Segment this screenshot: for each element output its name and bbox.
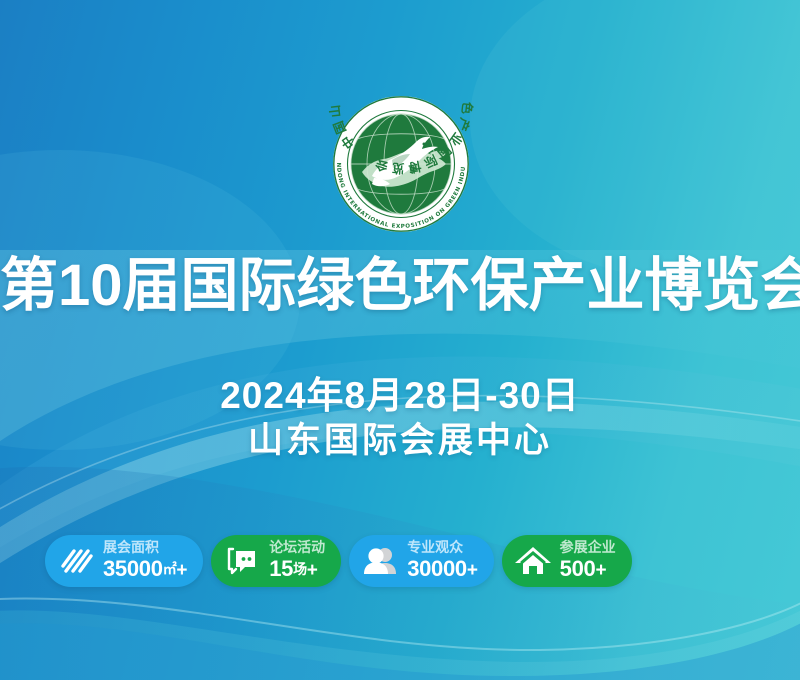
speech-bubble-icon	[223, 542, 261, 580]
stat-value: 15场+	[269, 557, 325, 583]
stat-unit: ㎡	[163, 561, 177, 577]
stats-row: 展会面积 35000㎡+ 论坛活动 15场+	[45, 535, 755, 587]
stat-number: 500	[560, 556, 596, 581]
audience-people-icon	[361, 542, 399, 580]
banner-title: 第10届国际绿色环保产业博览会	[0, 252, 800, 320]
stat-suffix: +	[307, 560, 318, 581]
stat-label: 专业观众	[407, 539, 477, 555]
stat-label: 展会面积	[103, 539, 187, 555]
stat-label: 论坛活动	[269, 539, 325, 555]
stat-value: 35000㎡+	[103, 557, 187, 583]
stat-number: 15	[269, 556, 293, 581]
stat-pill-exhibition-area: 展会面积 35000㎡+	[45, 535, 203, 587]
expo-banner: 绿色产业国际博览会 · 中国山东 SHANDONG INTERNATIONAL …	[0, 0, 800, 680]
stat-number: 30000	[407, 556, 467, 581]
stat-unit: 场	[293, 561, 307, 577]
stat-label: 参展企业	[560, 539, 616, 555]
stat-suffix: +	[595, 560, 606, 581]
stat-number: 35000	[103, 556, 163, 581]
stat-pill-exhibiting-companies: 参展企业 500+	[502, 535, 632, 587]
expo-logo: 绿色产业国际博览会 · 中国山东 SHANDONG INTERNATIONAL …	[318, 80, 484, 232]
area-stripes-icon	[57, 542, 95, 580]
stat-suffix: +	[176, 560, 187, 581]
exhibitor-house-icon	[514, 542, 552, 580]
stat-pill-forum-activities: 论坛活动 15场+	[211, 535, 341, 587]
stat-value: 30000+	[407, 557, 477, 583]
event-date: 2024年8月28日-30日	[0, 374, 800, 418]
event-venue: 山东国际会展中心	[0, 420, 800, 462]
stat-value: 500+	[560, 557, 616, 583]
stat-suffix: +	[467, 560, 478, 581]
stat-pill-professional-audience: 专业观众 30000+	[349, 535, 493, 587]
